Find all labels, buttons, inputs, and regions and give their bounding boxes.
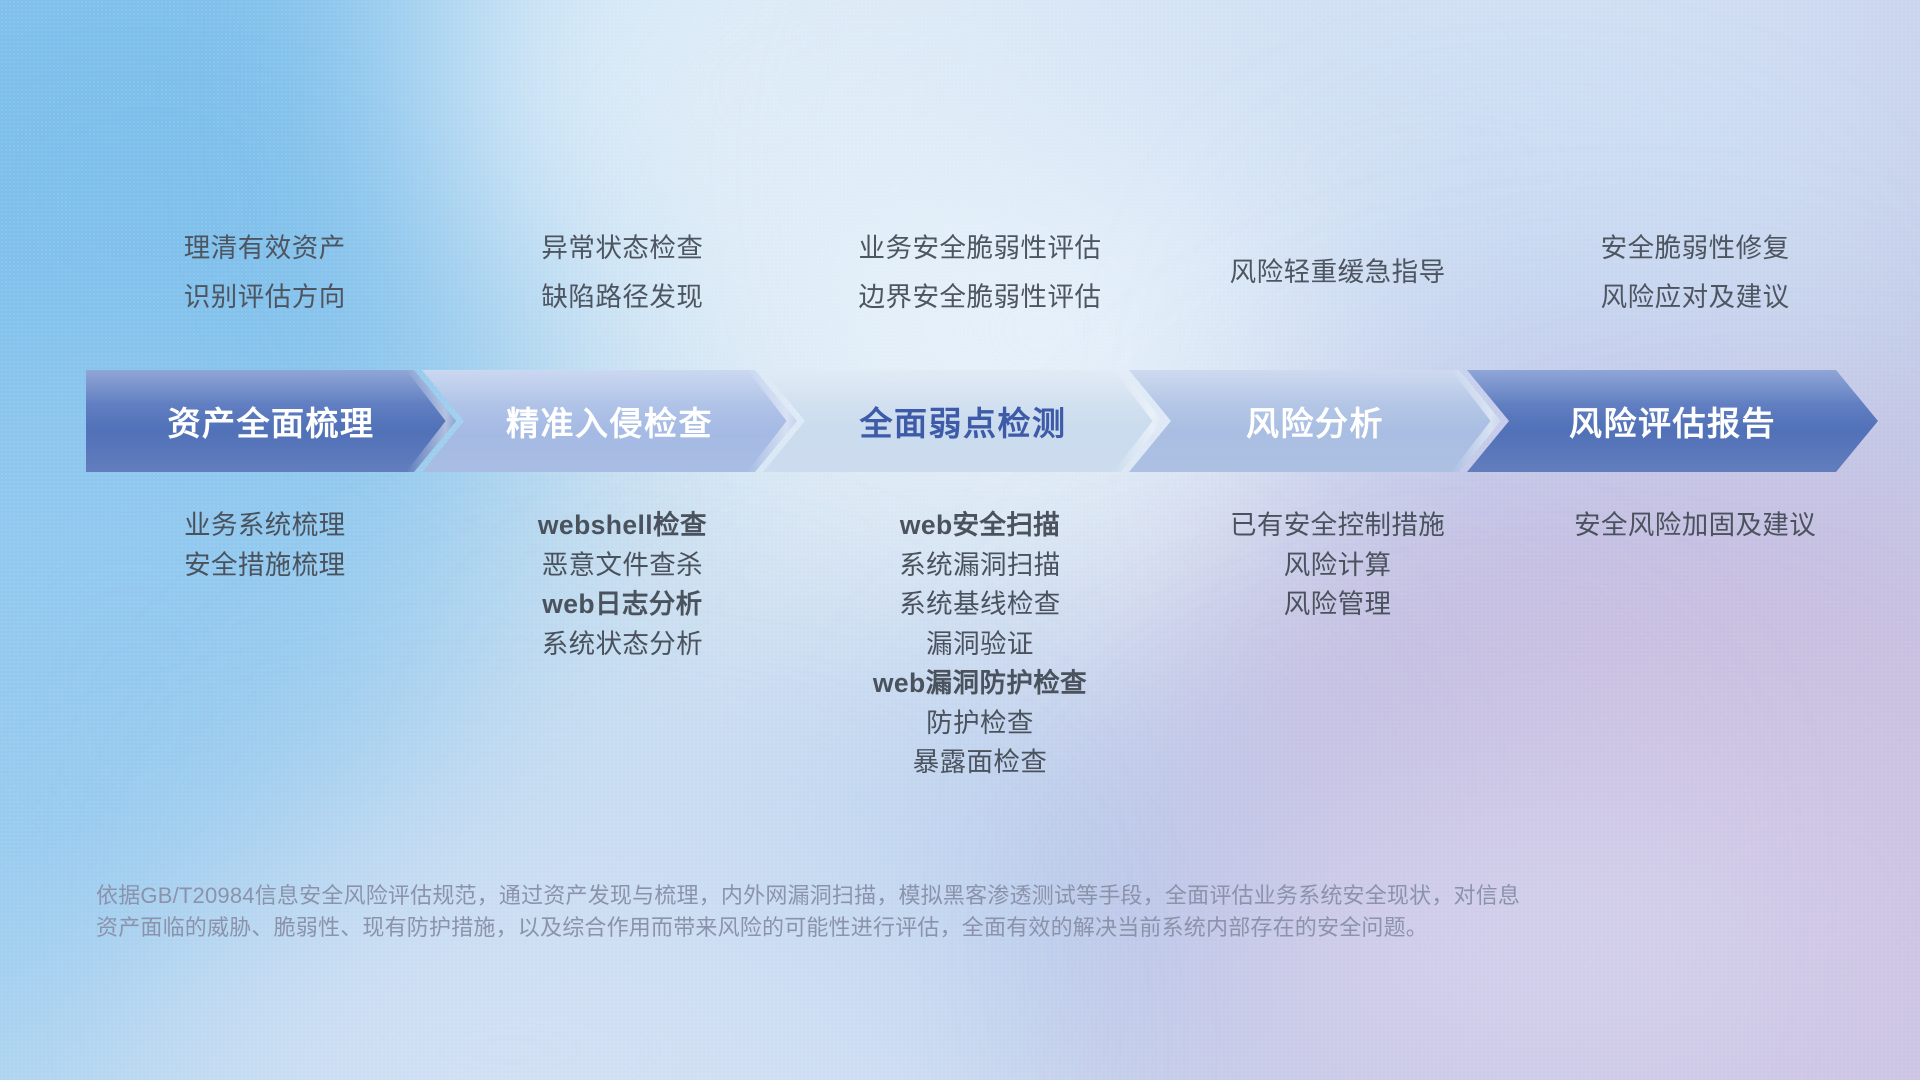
top-descriptor-line: 安全脆弱性修复 [1516, 224, 1874, 273]
bottom-descriptor-line: web安全扫描 [801, 506, 1159, 546]
footnote: 依据GB/T20984信息安全风险评估规范，通过资产发现与梳理，内外网漏洞扫描，… [96, 880, 1616, 944]
footnote-line: 依据GB/T20984信息安全风险评估规范，通过资产发现与梳理，内外网漏洞扫描，… [96, 880, 1616, 912]
process-step-label: 全面弱点检测 [860, 397, 1067, 445]
bottom-descriptor-line: 风险管理 [1159, 585, 1517, 625]
top-descriptor-line: 风险应对及建议 [1516, 273, 1874, 322]
top-descriptor-row: 理清有效资产 识别评估方向 异常状态检查 缺陷路径发现 业务安全脆弱性评估 边界… [86, 224, 1874, 322]
bottom-descriptors-asset-inventory: 业务系统梳理 安全措施梳理 [86, 506, 444, 783]
bottom-descriptor-line: 暴露面检查 [801, 743, 1159, 783]
bottom-descriptors-risk-analysis: 已有安全控制措施 风险计算 风险管理 [1159, 506, 1517, 783]
top-descriptor-line: 识别评估方向 [86, 273, 444, 322]
bottom-descriptors-assessment-report: 安全风险加固及建议 [1516, 506, 1874, 783]
process-step-intrusion-check[interactable]: 精准入侵检查 [422, 370, 797, 472]
bottom-descriptor-line: 系统漏洞扫描 [801, 546, 1159, 586]
bottom-descriptor-line: 已有安全控制措施 [1159, 506, 1517, 546]
bottom-descriptor-line: 安全措施梳理 [86, 546, 444, 586]
process-step-risk-analysis[interactable]: 风险分析 [1129, 370, 1501, 472]
top-descriptors-assessment-report: 安全脆弱性修复 风险应对及建议 [1516, 224, 1874, 322]
top-descriptor-line: 缺陷路径发现 [444, 273, 802, 322]
process-step-assessment-report[interactable]: 风险评估报告 [1467, 370, 1878, 472]
bottom-descriptors-weakness-detection: web安全扫描 系统漏洞扫描 系统基线检查 漏洞验证 web漏洞防护检查 防护检… [801, 506, 1159, 783]
top-descriptors-intrusion-check: 异常状态检查 缺陷路径发现 [444, 224, 802, 322]
top-descriptors-weakness-detection: 业务安全脆弱性评估 边界安全脆弱性评估 [801, 224, 1159, 322]
process-step-asset-inventory[interactable]: 资产全面梳理 [86, 370, 456, 472]
bottom-descriptor-line: webshell检查 [444, 506, 802, 546]
bottom-descriptor-line: 安全风险加固及建议 [1516, 506, 1874, 546]
slide-canvas: 理清有效资产 识别评估方向 异常状态检查 缺陷路径发现 业务安全脆弱性评估 边界… [0, 0, 1920, 1080]
bottom-descriptor-line: web日志分析 [444, 585, 802, 625]
bottom-descriptors-intrusion-check: webshell检查 恶意文件查杀 web日志分析 系统状态分析 [444, 506, 802, 783]
top-descriptor-line: 业务安全脆弱性评估 [801, 224, 1159, 273]
footnote-line: 资产面临的威胁、脆弱性、现有防护措施，以及综合作用而带来风险的可能性进行评估，全… [96, 912, 1616, 944]
bottom-descriptor-line: web漏洞防护检查 [801, 664, 1159, 704]
process-chevron-band: 资产全面梳理 精准入侵检查 全面弱点检测 风险分析 风险评估报告 [86, 370, 1878, 472]
bottom-descriptor-line: 系统状态分析 [444, 625, 802, 665]
process-step-label: 风险评估报告 [1569, 397, 1776, 445]
bottom-descriptor-line: 恶意文件查杀 [444, 546, 802, 586]
top-descriptors-risk-analysis: 风险轻重缓急指导 [1159, 224, 1517, 322]
top-descriptor-line: 风险轻重缓急指导 [1159, 248, 1517, 297]
top-descriptors-asset-inventory: 理清有效资产 识别评估方向 [86, 224, 444, 322]
bottom-descriptor-line: 系统基线检查 [801, 585, 1159, 625]
top-descriptor-line: 理清有效资产 [86, 224, 444, 273]
top-descriptor-line: 边界安全脆弱性评估 [801, 273, 1159, 322]
bottom-descriptor-row: 业务系统梳理 安全措施梳理 webshell检查 恶意文件查杀 web日志分析 … [86, 506, 1874, 783]
bottom-descriptor-line: 防护检查 [801, 704, 1159, 744]
top-descriptor-line: 异常状态检查 [444, 224, 802, 273]
process-step-label: 精准入侵检查 [506, 397, 713, 445]
bottom-descriptor-line: 业务系统梳理 [86, 506, 444, 546]
bottom-descriptor-line: 漏洞验证 [801, 625, 1159, 665]
bottom-descriptor-line: 风险计算 [1159, 546, 1517, 586]
process-step-weakness-detection[interactable]: 全面弱点检测 [763, 370, 1163, 472]
process-step-label: 资产全面梳理 [168, 397, 375, 445]
process-step-label: 风险分析 [1246, 397, 1384, 445]
